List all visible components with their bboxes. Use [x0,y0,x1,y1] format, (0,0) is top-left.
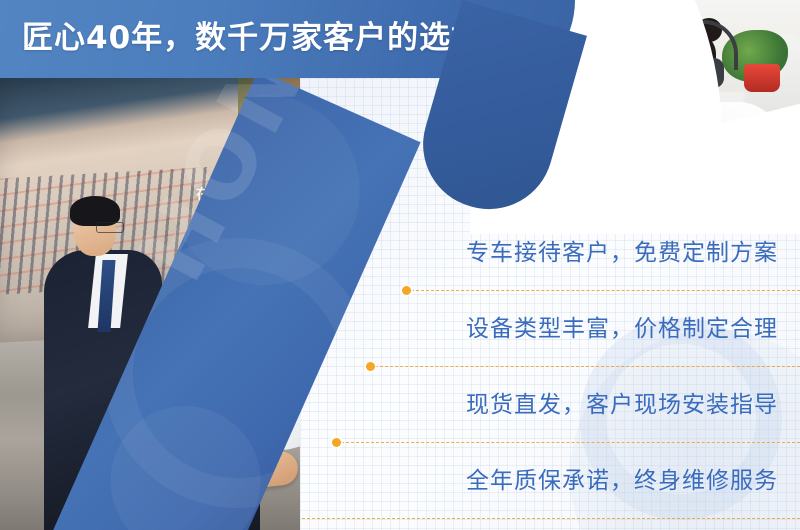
feature-row: 设备类型丰富，价格制定合理 [300,294,800,366]
feature-divider [406,290,800,291]
feature-label: 专车接待客户，免费定制方案 [466,236,778,270]
feature-row: 现货直发，客户现场安装指导 [300,370,800,442]
promo-banner: 2300 在 HON online employ [0,0,800,530]
feature-label: 设备类型丰富，价格制定合理 [466,312,778,346]
feature-label: 全年质保承诺，终身维修服务 [466,464,778,498]
feature-label: 现货直发，客户现场安装指导 [466,388,778,422]
person-left-glasses [96,222,124,233]
feature-divider [336,442,800,443]
feature-divider [302,518,800,519]
feature-row: 全年质保承诺，终身维修服务 [300,446,800,518]
page-title: 匠心40年，数千万家客户的选择 [22,16,483,60]
feature-row: 专车接待客户，免费定制方案 [300,218,800,290]
feature-divider [370,366,800,367]
